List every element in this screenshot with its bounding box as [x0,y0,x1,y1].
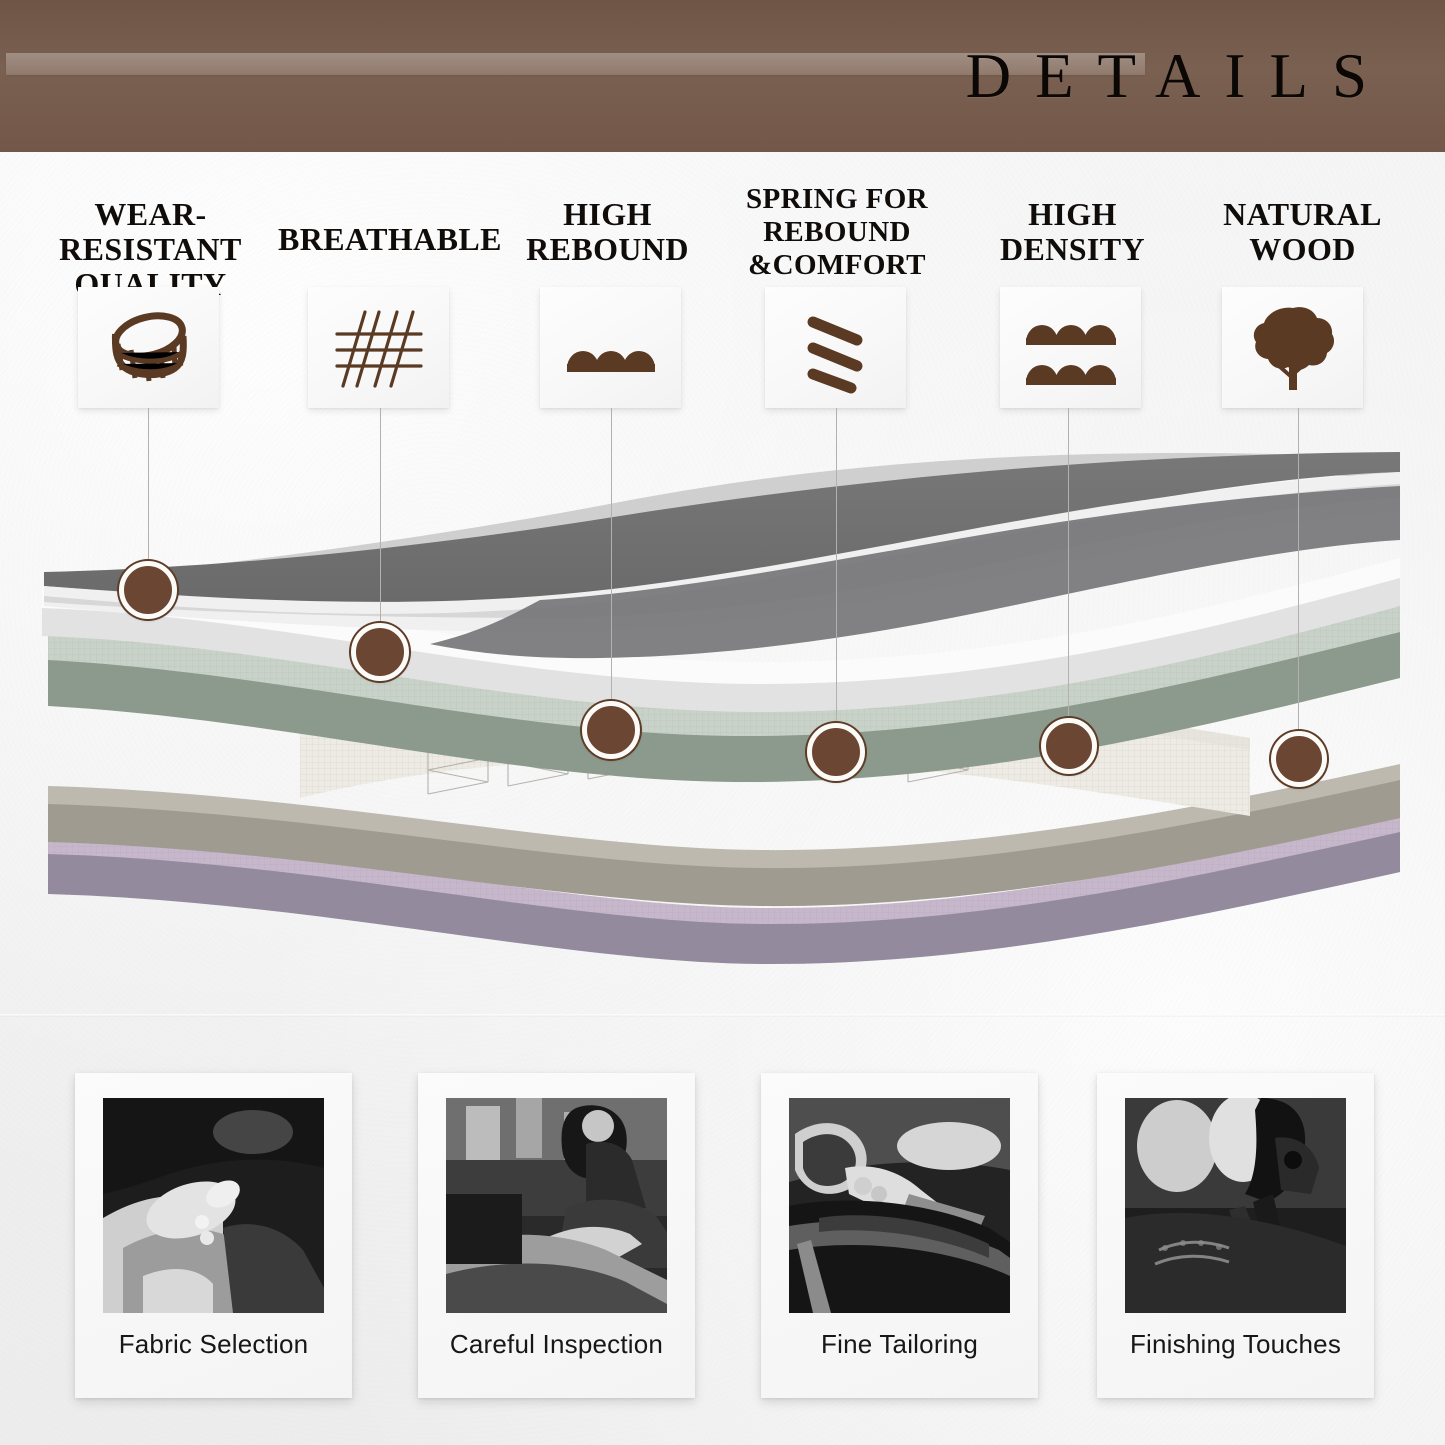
feature-label-high-rebound: HIGHREBOUND [520,197,695,267]
feature-label-high-density: HIGHDENSITY [985,197,1160,267]
feature-tile-natural-wood [1222,287,1363,408]
process-card-caption: Fabric Selection [75,1329,352,1360]
leader-line-5 [1068,408,1069,723]
worker-inspecting-leather-photo [446,1098,667,1313]
process-card-caption: Fine Tailoring [761,1329,1038,1360]
feature-label-spring-for-rebound-comfort: SPRING FORREBOUND&COMFORT [742,183,932,282]
feature-tile-breathable [308,287,449,408]
double-row-domes-icon [1022,306,1120,390]
feature-tile-high-density [1000,287,1141,408]
page-title: DETAILS [966,40,1391,112]
process-card[interactable]: Finishing Touches [1097,1073,1374,1398]
feature-label-natural-wood: NATURALWOOD [1215,197,1390,267]
layer-marker-1 [119,561,177,619]
leader-line-3 [611,408,612,708]
three-domes-icon [563,320,659,376]
layer-marker-6 [1271,731,1327,787]
leader-line-4 [836,408,837,730]
header-banner: DETAILS [0,0,1445,152]
process-card[interactable]: Careful Inspection [418,1073,695,1398]
process-card-caption: Careful Inspection [418,1329,695,1360]
feature-tile-high-rebound [540,287,681,408]
section-divider [0,1014,1445,1017]
feature-tile-wear-resistant-quality [78,287,219,408]
process-card[interactable]: Fine Tailoring [761,1073,1038,1398]
layer-marker-4 [807,723,865,781]
woven-basket-icon [103,308,195,388]
infographic-page: DETAILS [0,0,1445,1445]
mattress-layer-diagram [0,420,1445,1020]
hand-cutting-leather-photo [789,1098,1010,1313]
layer-marker-2 [351,623,409,681]
layer-marker-5 [1041,718,1097,774]
feature-label-breathable: BREATHABLE [278,222,483,257]
diagonal-springs-icon [801,302,871,394]
leader-line-1 [148,408,149,572]
feature-tile-spring-for-rebound-comfort [765,287,906,408]
process-card[interactable]: Fabric Selection [75,1073,352,1398]
layer-marker-3 [582,701,640,759]
sewing-machine-stitching-photo [1125,1098,1346,1313]
tree-icon [1250,302,1336,394]
process-card-caption: Finishing Touches [1097,1329,1374,1360]
leader-line-2 [380,408,381,630]
crosshatch-weave-icon [331,304,427,392]
hands-feeling-fabric-photo [103,1098,324,1313]
leader-line-6 [1298,408,1299,736]
